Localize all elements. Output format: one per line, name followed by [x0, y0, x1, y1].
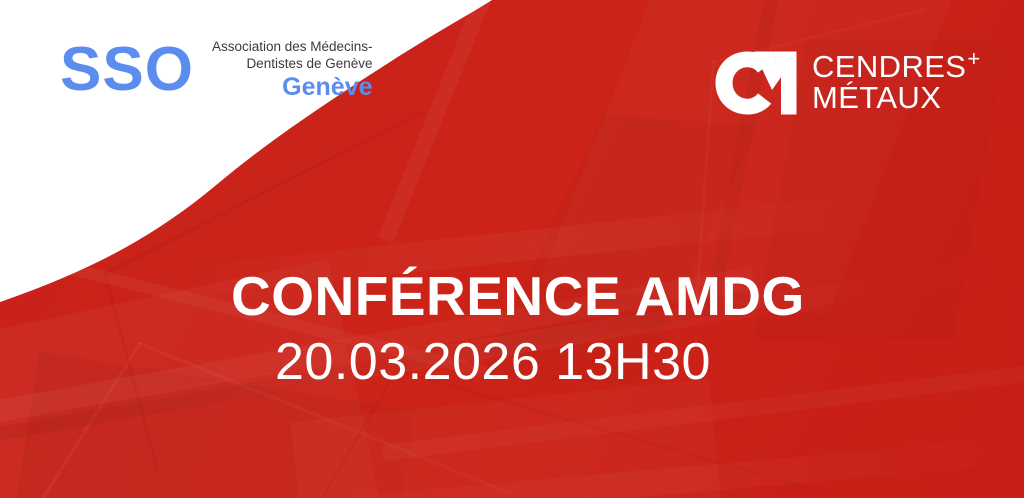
- logo-cendres-metaux: CENDRES + MÉTAUX: [714, 50, 981, 116]
- cm-word-cendres: CENDRES: [812, 52, 966, 83]
- cm-plus-superscript: +: [967, 48, 980, 70]
- cm-monogram-icon: [714, 50, 798, 116]
- event-datetime: 20.03.2026 13H30: [275, 332, 805, 393]
- cm-word-metaux: MÉTAUX: [812, 83, 981, 114]
- event-title: CONFÉRENCE AMDG: [231, 268, 805, 326]
- cm-word-cendres-row: CENDRES +: [812, 52, 981, 83]
- cm-wordmark: CENDRES + MÉTAUX: [812, 52, 981, 113]
- headline-block: CONFÉRENCE AMDG 20.03.2026 13H30: [231, 268, 805, 393]
- logo-sso: SSO Association des Médecins- Dentistes …: [60, 38, 373, 101]
- sso-wordmark: SSO: [60, 39, 194, 101]
- sso-tagline-line-1: Association des Médecins-: [212, 38, 373, 55]
- sso-tagline-line-2: Dentistes de Genève: [246, 55, 372, 72]
- conference-banner: SSO Association des Médecins- Dentistes …: [0, 0, 1024, 498]
- sso-tagline-block: Association des Médecins- Dentistes de G…: [212, 38, 373, 101]
- sso-city-label: Genève: [282, 74, 372, 102]
